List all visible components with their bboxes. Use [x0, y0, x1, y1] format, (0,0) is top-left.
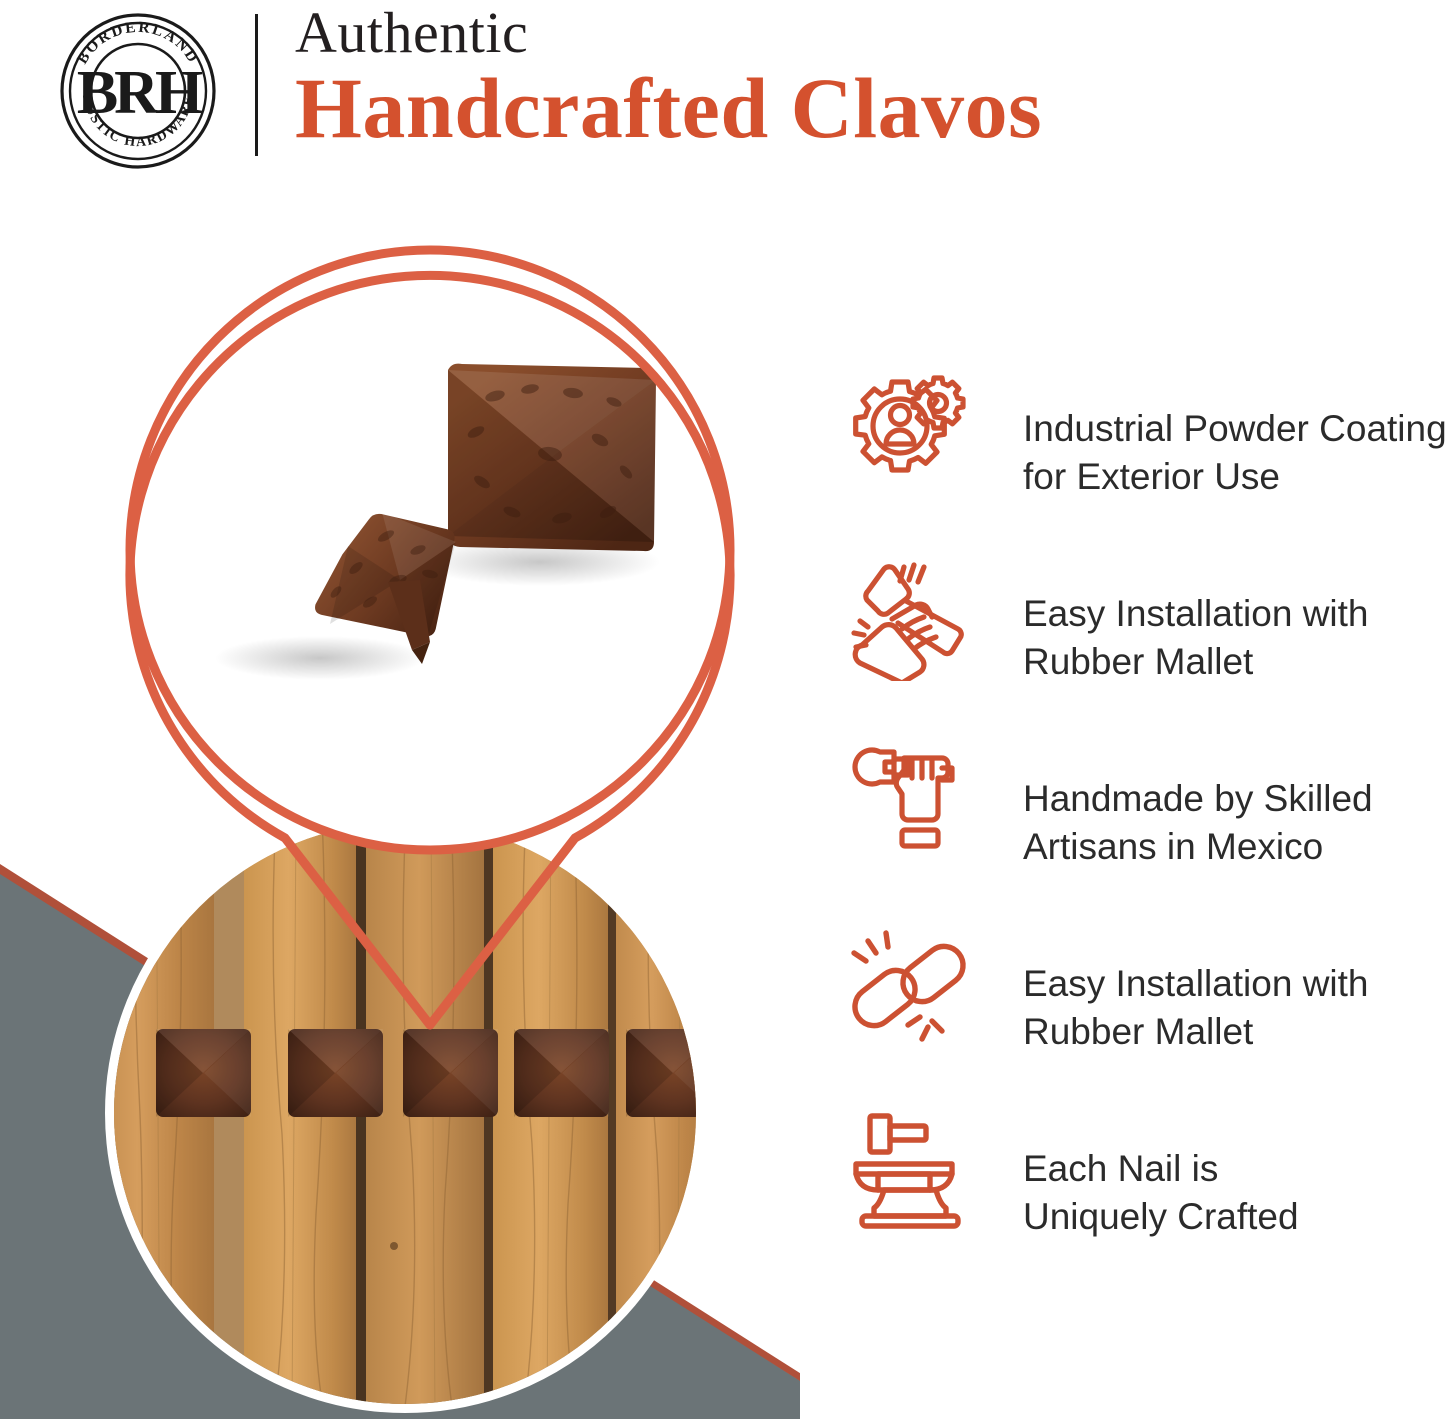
feature-item-handmade-mexico: Handmade by Skilled Artisans in Mexico: [838, 730, 1445, 915]
feature-item-powder-coating: Industrial Powder Coating for Exterior U…: [838, 360, 1445, 545]
fist-wrench-icon: [846, 738, 974, 866]
feature-list: Industrial Powder Coating for Exterior U…: [838, 360, 1445, 1285]
header: BORDERLAND RUSTIC HARDWARE BRH Authentic…: [0, 0, 1445, 200]
header-divider: [255, 14, 258, 156]
product-closeup-bubble: [110, 230, 760, 1030]
feature-label: Each Nail is Uniquely Crafted: [1023, 1145, 1445, 1241]
feature-label: Easy Installation with Rubber Mallet: [1023, 960, 1445, 1056]
bubble-outline: [110, 230, 760, 1030]
header-title-block: Authentic Handcrafted Clavos: [295, 2, 1435, 154]
page-title-line-2: Handcrafted Clavos: [295, 62, 1435, 154]
gear-person-icon: [846, 368, 974, 496]
anvil-hammer-icon: [846, 1108, 974, 1236]
hand-mallet-icon: [846, 553, 974, 681]
product-visual-column: [0, 190, 800, 1419]
logo-monogram: BRH: [77, 59, 203, 127]
feature-label: Handmade by Skilled Artisans in Mexico: [1023, 775, 1445, 871]
infographic-page: BORDERLAND RUSTIC HARDWARE BRH Authentic…: [0, 0, 1445, 1419]
brand-logo-icon: BORDERLAND RUSTIC HARDWARE BRH: [57, 10, 219, 172]
chain-link-icon: [846, 923, 974, 1051]
feature-item-easy-installation-2: Easy Installation with Rubber Mallet: [838, 915, 1445, 1100]
feature-label: Easy Installation with Rubber Mallet: [1023, 590, 1445, 686]
page-title-line-1: Authentic: [295, 2, 1435, 64]
feature-item-uniquely-crafted: Each Nail is Uniquely Crafted: [838, 1100, 1445, 1285]
feature-item-easy-installation-1: Easy Installation with Rubber Mallet: [838, 545, 1445, 730]
feature-label: Industrial Powder Coating for Exterior U…: [1023, 405, 1445, 501]
